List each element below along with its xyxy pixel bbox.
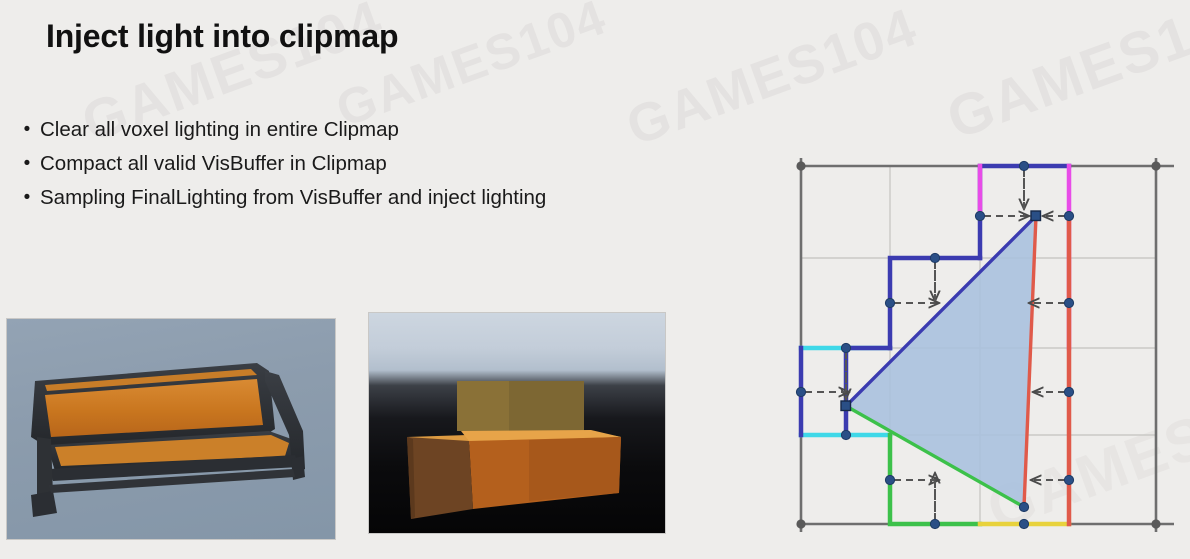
sample-node: [885, 475, 894, 484]
sample-node: [1019, 519, 1028, 528]
bullet-list: • Clear all voxel lighting in entire Cli…: [14, 116, 754, 218]
vertex-node: [1031, 211, 1041, 221]
sample-node: [1064, 475, 1073, 484]
list-item: • Clear all voxel lighting in entire Cli…: [14, 116, 754, 143]
clipmap-voxelization-diagram: [780, 148, 1180, 544]
corner-node: [1151, 161, 1160, 170]
sample-node: [841, 343, 850, 352]
list-item-label: Compact all valid VisBuffer in Clipmap: [40, 150, 387, 177]
sample-node: [796, 387, 805, 396]
voxel-render-canvas: [369, 313, 665, 533]
page-title: Inject light into clipmap: [46, 18, 398, 55]
bench-illustration: [7, 319, 336, 540]
sample-node: [1064, 298, 1073, 307]
sample-node: [975, 211, 984, 220]
sample-node: [841, 430, 850, 439]
sample-node: [885, 298, 894, 307]
bench-render-canvas: [7, 319, 335, 539]
list-item: • Compact all valid VisBuffer in Clipmap: [14, 150, 754, 177]
sample-node: [1064, 387, 1073, 396]
sample-node: [930, 519, 939, 528]
corner-node: [796, 519, 805, 528]
detailed-bench-render: [6, 318, 336, 540]
sample-node: [1019, 161, 1028, 170]
sample-node: [930, 253, 939, 262]
list-item-label: Clear all voxel lighting in entire Clipm…: [40, 116, 399, 143]
vertex-node: [1019, 502, 1028, 511]
list-item-label: Sampling FinalLighting from VisBuffer an…: [40, 184, 546, 211]
diagram-svg: [780, 148, 1180, 544]
bullet-marker-icon: •: [14, 150, 40, 177]
sample-node: [1064, 211, 1073, 220]
corner-node: [796, 161, 805, 170]
list-item: • Sampling FinalLighting from VisBuffer …: [14, 184, 754, 211]
voxelized-bench-render: [368, 312, 666, 534]
vertex-node: [841, 401, 851, 411]
slide-canvas: GAMES104 GAMES104 GAMES104 GAMES104 GAME…: [0, 0, 1190, 559]
corner-node: [1151, 519, 1160, 528]
bullet-marker-icon: •: [14, 184, 40, 211]
watermark-text: GAMES104: [938, 0, 1190, 153]
bullet-marker-icon: •: [14, 116, 40, 143]
voxel-bench-illustration: [369, 313, 666, 534]
